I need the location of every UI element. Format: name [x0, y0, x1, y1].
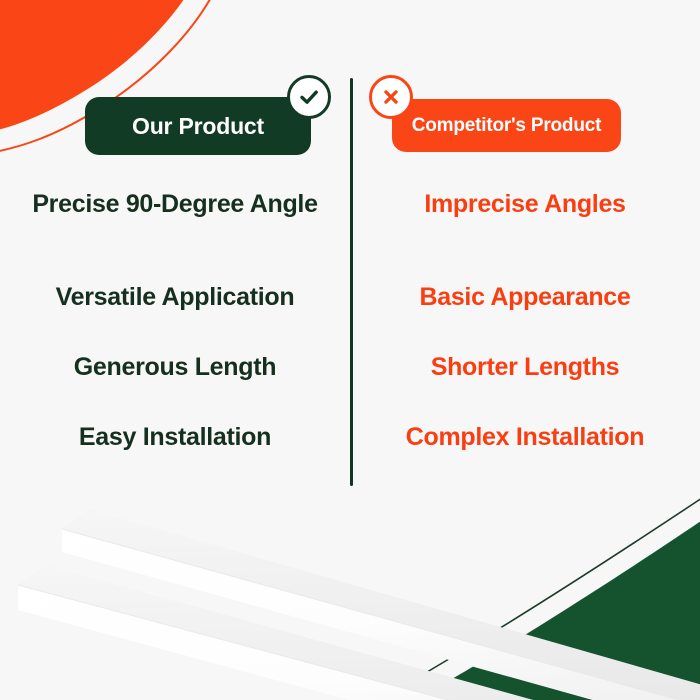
feature-item-theirs: Complex Installation — [360, 421, 690, 453]
column-divider — [350, 78, 353, 486]
check-circle-icon — [287, 75, 331, 119]
competitor-product-header-pill: Competitor's Product — [392, 99, 621, 152]
our-product-label: Our Product — [132, 113, 264, 140]
feature-item-theirs: Shorter Lengths — [360, 351, 690, 383]
feature-item-theirs: Imprecise Angles — [360, 188, 690, 220]
our-product-header-pill: Our Product — [85, 97, 311, 155]
feature-item-ours: Generous Length — [10, 351, 340, 383]
feature-item-ours: Precise 90-Degree Angle — [10, 188, 340, 220]
feature-item-theirs: Basic Appearance — [360, 281, 690, 313]
comparison-content: Our Product Competitor's Product Precise… — [0, 0, 700, 700]
feature-item-ours: Easy Installation — [10, 421, 340, 453]
feature-item-ours: Versatile Application — [10, 281, 340, 313]
cross-circle-icon — [369, 75, 413, 119]
competitor-product-label: Competitor's Product — [412, 115, 601, 137]
infographic-canvas: Our Product Competitor's Product Precise… — [0, 0, 700, 700]
